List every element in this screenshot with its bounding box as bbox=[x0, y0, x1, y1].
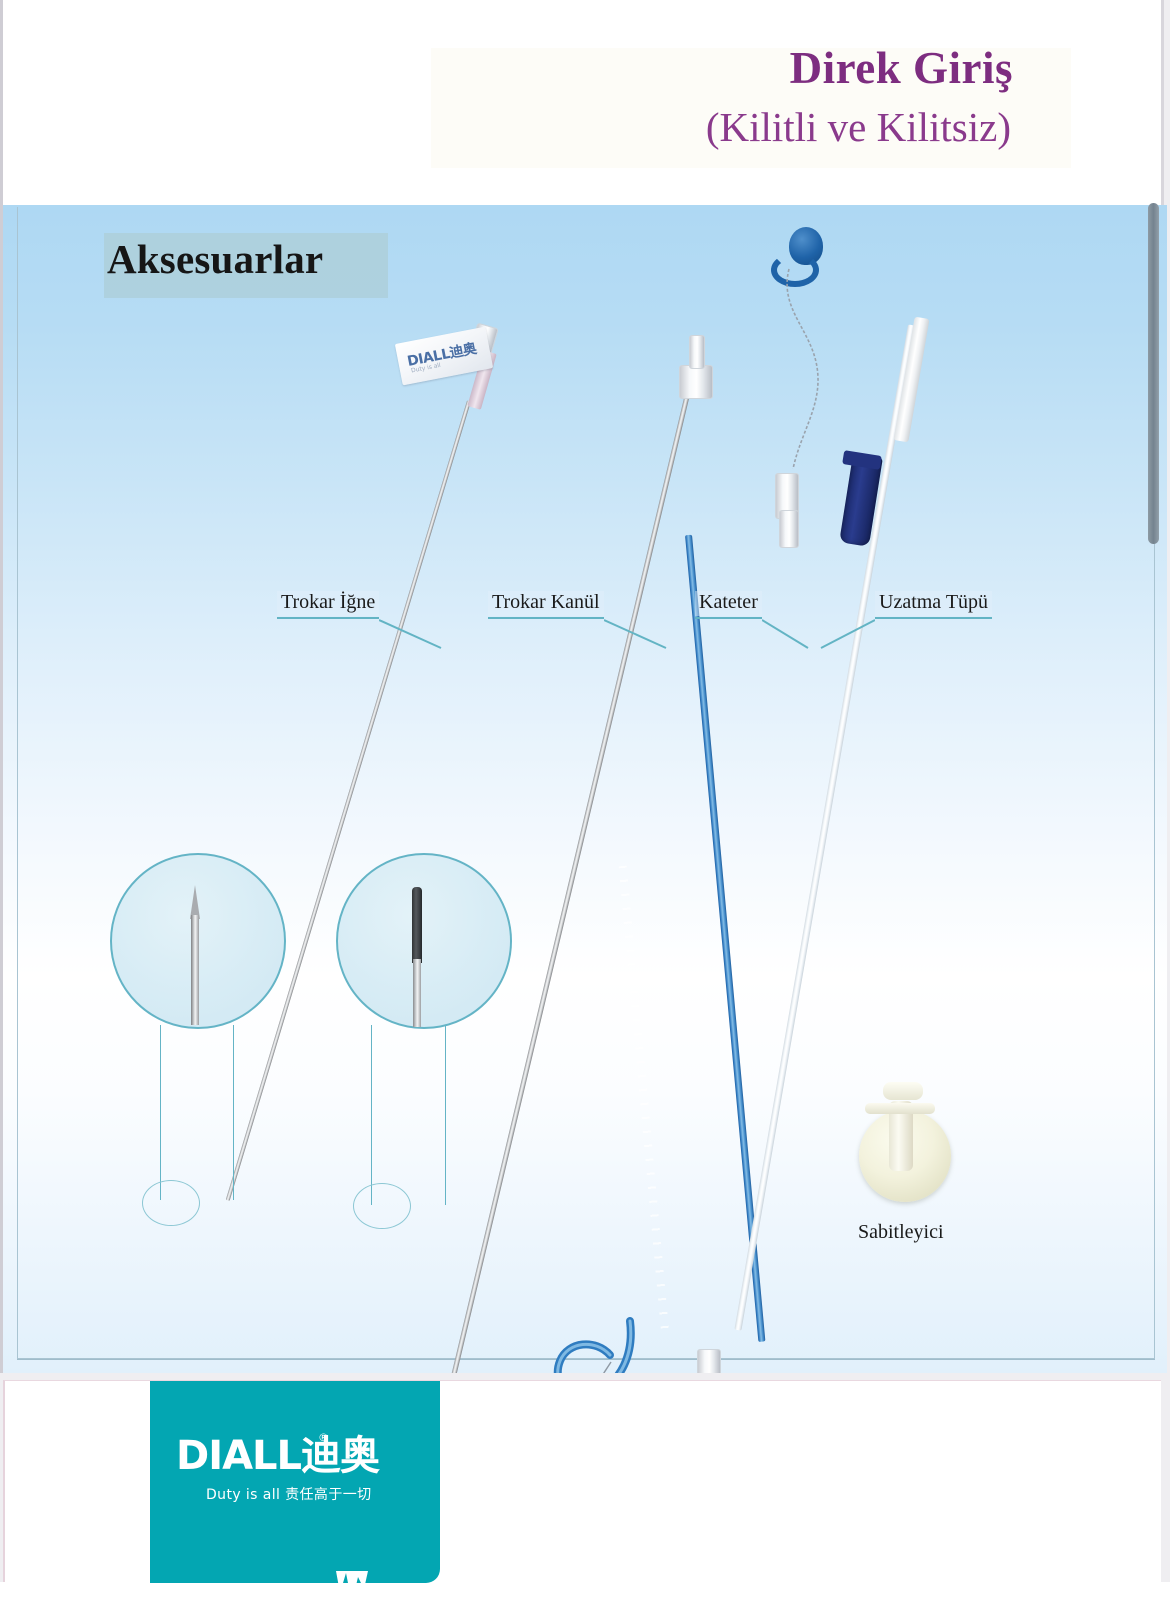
instruments-illustration: DIALL迪奥 Duty is all bbox=[3, 205, 1167, 1373]
callout-label: Trokar İğne bbox=[277, 591, 379, 616]
needle-magnifier-leader-left bbox=[160, 1025, 161, 1200]
callout-label: Uzatma Tüpü bbox=[875, 591, 992, 616]
trokar-cannula-hub bbox=[679, 365, 713, 399]
fixator-wings bbox=[865, 1103, 935, 1114]
slide-page-two: DIALL迪奥 ® Duty is all 责任高于一切 bbox=[3, 1380, 1161, 1582]
fixator-caption: Sabitleyici bbox=[858, 1221, 944, 1244]
trokar-cannula-luer bbox=[689, 335, 705, 369]
callout-trokar-cannula: Trokar Kanül bbox=[488, 591, 604, 619]
fixator-cap bbox=[883, 1082, 923, 1100]
heartbeat-icon bbox=[322, 1571, 382, 1605]
page-title: Direk Giriş bbox=[790, 42, 1013, 94]
slide-page-one: Direk Giriş (Kilitli ve Kilitsiz) Aksesu… bbox=[0, 0, 1164, 1373]
registered-mark-icon: ® bbox=[318, 1431, 329, 1444]
scrollbar-thumb[interactable] bbox=[1148, 203, 1159, 544]
needle-tip-shaft bbox=[191, 915, 199, 1025]
extension-tube-connector bbox=[697, 1349, 721, 1373]
content-panel: Aksesuarlar DIALL迪奥 Duty is all bbox=[3, 205, 1167, 1373]
trokar-needle-shaft bbox=[226, 400, 471, 1201]
callout-trokar-needle: Trokar İğne bbox=[277, 591, 379, 619]
logo-wordmark: DIALL迪奥 bbox=[176, 1436, 416, 1476]
callout-extension-tube: Uzatma Tüpü bbox=[875, 591, 992, 619]
extension-tube-clamp-head bbox=[842, 450, 882, 470]
callout-leader-line bbox=[819, 619, 875, 649]
callout-underline bbox=[875, 617, 992, 619]
cannula-magnifier-leader-right bbox=[445, 1025, 446, 1205]
callout-leader-line bbox=[762, 619, 810, 649]
page-subtitle: (Kilitli ve Kilitsiz) bbox=[706, 103, 1011, 151]
catheter-pigtail-loop bbox=[548, 1317, 658, 1373]
cannula-tip-magnifier bbox=[336, 853, 512, 1029]
callout-underline bbox=[695, 617, 762, 619]
cannula-tip-dark bbox=[412, 887, 422, 963]
cannula-magnifier-origin bbox=[353, 1183, 411, 1229]
callout-underline bbox=[488, 617, 604, 619]
callout-leader-line bbox=[379, 619, 443, 649]
cannula-magnifier-leader-left bbox=[371, 1025, 372, 1205]
callout-underline bbox=[277, 617, 379, 619]
cannula-tip-shaft bbox=[413, 959, 421, 1027]
callout-catheter: Kateter bbox=[695, 591, 762, 619]
logo-tagline: Duty is all 责任高于一切 bbox=[206, 1484, 372, 1504]
catheter-graduations bbox=[619, 866, 670, 1335]
needle-magnifier-leader-right bbox=[233, 1025, 234, 1200]
needle-tip-magnifier bbox=[110, 853, 286, 1029]
catheter-suture-thread bbox=[773, 263, 843, 483]
needle-magnifier-origin bbox=[142, 1180, 200, 1226]
diall-logo-block: DIALL迪奥 ® Duty is all 责任高于一切 bbox=[150, 1381, 440, 1583]
callout-label: Trokar Kanül bbox=[488, 591, 604, 616]
catheter-hub-lower bbox=[779, 510, 799, 548]
needle-tip-bevel bbox=[190, 885, 200, 919]
header-band: Direk Giriş (Kilitli ve Kilitsiz) bbox=[3, 0, 1161, 205]
callout-label: Kateter bbox=[695, 591, 762, 616]
callout-leader-line bbox=[604, 619, 668, 649]
